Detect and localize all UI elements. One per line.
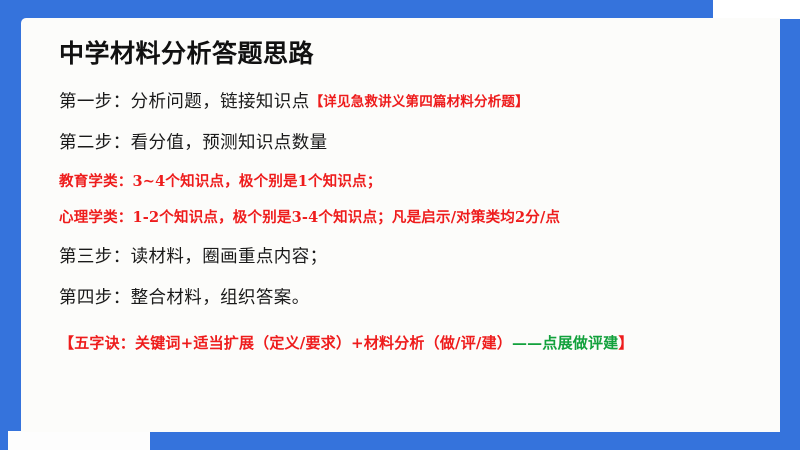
- decorative-notch-bottom-left: [8, 431, 150, 450]
- note-psychology: 心理学类：1-2个知识点，极个别是3-4个知识点；凡是启示/对策类均2分/点: [59, 209, 760, 226]
- step-4-label: 第四步：整合材料，组织答案。: [59, 287, 310, 307]
- summary-prefix: 【五字诀：关键词+适当扩展（定义/要求）+材料分析（做/评/建）: [59, 334, 512, 352]
- step-2-line: 第二步：看分值，预测知识点数量: [59, 132, 760, 153]
- summary-suffix: 】: [618, 334, 633, 352]
- note-education: 教育学类：3~4个知识点，极个别是1个知识点；: [59, 173, 760, 190]
- slide-card: 中学材料分析答题思路 第一步：分析问题，链接知识点【详见急救讲义第四篇材料分析题…: [21, 18, 780, 432]
- summary-line: 【五字诀：关键词+适当扩展（定义/要求）+材料分析（做/评/建）——点展做评建】: [59, 334, 760, 352]
- slide-content: 中学材料分析答题思路 第一步：分析问题，链接知识点【详见急救讲义第四篇材料分析题…: [59, 40, 760, 352]
- step-3-label: 第三步：读材料，圈画重点内容；: [59, 246, 328, 266]
- step-1-line: 第一步：分析问题，链接知识点【详见急救讲义第四篇材料分析题】: [59, 91, 760, 112]
- step-1-note: 【详见急救讲义第四篇材料分析题】: [310, 94, 529, 110]
- step-2-label: 第二步：看分值，预测知识点数量: [59, 132, 328, 152]
- step-4-line: 第四步：整合材料，组织答案。: [59, 287, 760, 308]
- page-title: 中学材料分析答题思路: [59, 40, 760, 69]
- summary-highlight: ——点展做评建: [512, 334, 618, 352]
- decorative-notch-top-right: [713, 0, 800, 19]
- slide-canvas: 中学材料分析答题思路 第一步：分析问题，链接知识点【详见急救讲义第四篇材料分析题…: [0, 0, 800, 450]
- step-1-label: 第一步：分析问题，链接知识点: [59, 91, 310, 111]
- step-3-line: 第三步：读材料，圈画重点内容；: [59, 246, 760, 267]
